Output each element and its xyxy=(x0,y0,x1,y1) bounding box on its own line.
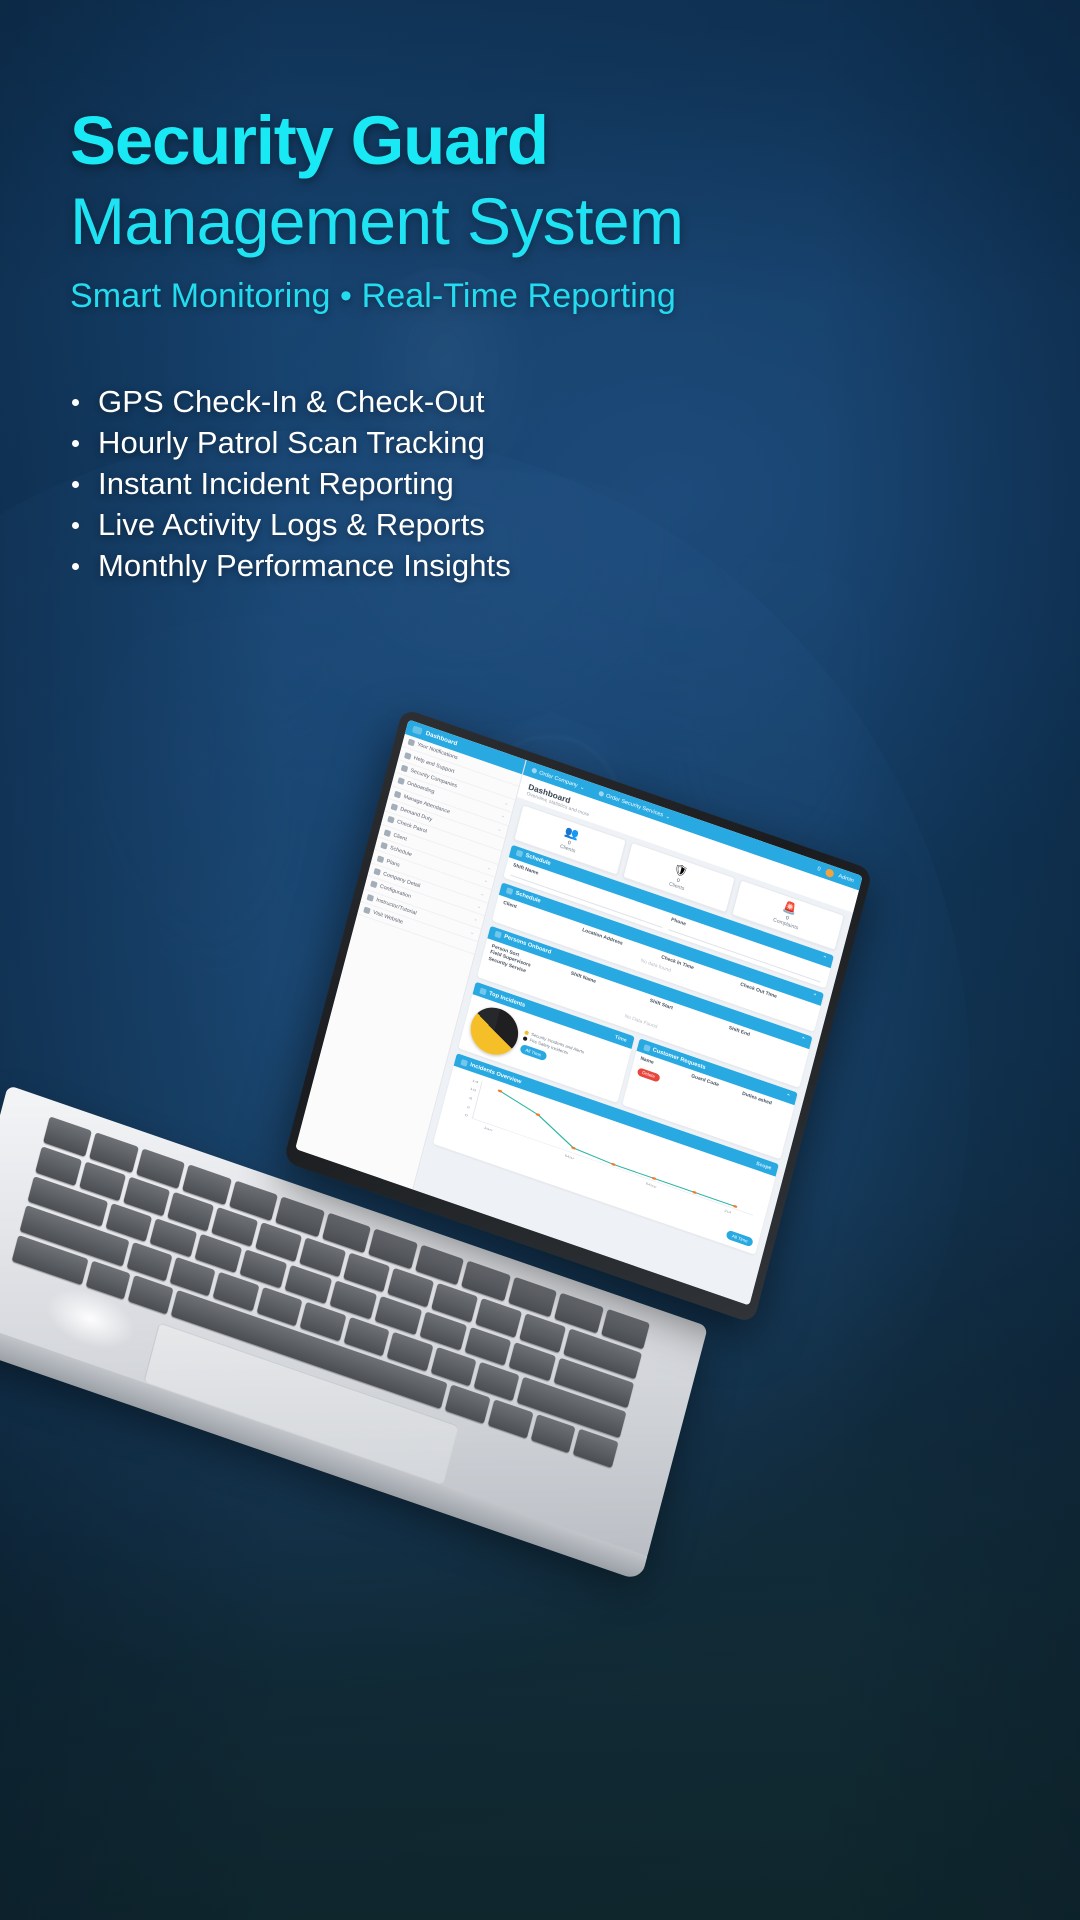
help-icon xyxy=(404,752,412,760)
svg-text:0: 0 xyxy=(464,1113,468,1117)
chevron-down-icon: ⌄ xyxy=(483,877,489,884)
people-icon xyxy=(494,931,502,939)
app-logo-icon xyxy=(412,725,423,735)
bullet-dot-icon xyxy=(72,522,79,529)
onboard-icon xyxy=(397,777,405,785)
collapse-icon[interactable]: ⌃ xyxy=(812,993,818,1000)
chevron-down-icon: ⌄ xyxy=(480,890,486,897)
schedule-icon xyxy=(516,850,524,858)
duty-icon xyxy=(390,803,398,811)
feature-label: GPS Check-In & Check-Out xyxy=(98,384,485,419)
alert-icon xyxy=(479,987,487,995)
svg-text:10: 10 xyxy=(470,1087,478,1092)
chevron-down-icon: ⌄ xyxy=(504,800,510,807)
hero-subtitle: Smart Monitoring • Real-Time Reporting xyxy=(70,277,676,316)
pie-legend: Security Incidents and Alerts Fire Safet… xyxy=(519,1029,585,1073)
headline-line-2: Management System xyxy=(70,183,683,259)
svg-text:Mar: Mar xyxy=(564,1154,575,1161)
laptop-mockup: Dashboard Your Notifications Help and Su… xyxy=(0,690,1080,1410)
plans-icon xyxy=(377,855,385,863)
client-icon xyxy=(384,829,392,837)
plus-icon xyxy=(598,790,604,797)
globe-icon xyxy=(363,907,371,915)
feature-item: Hourly Patrol Scan Tracking xyxy=(68,422,511,463)
bullet-dot-icon xyxy=(72,440,79,447)
svg-text:2: 2 xyxy=(467,1105,471,1109)
legend-swatch xyxy=(523,1036,528,1041)
chevron-down-icon: ⌄ xyxy=(500,813,506,820)
feature-label: Instant Incident Reporting xyxy=(98,466,454,501)
chevron-down-icon: ⌄ xyxy=(476,903,482,910)
feature-label: Monthly Performance Insights xyxy=(98,548,511,583)
svg-text:Jul: Jul xyxy=(723,1209,731,1215)
user-label[interactable]: Admin xyxy=(838,873,855,884)
bullet-dot-icon xyxy=(72,563,79,570)
headline-line-1: Security Guard xyxy=(70,101,548,180)
gear-icon xyxy=(370,881,378,889)
collapse-icon[interactable]: ⌃ xyxy=(821,955,827,962)
chevron-down-icon: ⌄ xyxy=(469,929,475,936)
time-label: Time xyxy=(614,1034,627,1044)
bullet-dot-icon xyxy=(72,399,79,406)
chevron-down-icon: ⌄ xyxy=(486,865,492,872)
avatar[interactable] xyxy=(824,867,834,877)
schedule-icon xyxy=(380,842,388,850)
calendar-icon xyxy=(506,887,514,895)
patrol-icon xyxy=(387,816,395,824)
feature-item: Monthly Performance Insights xyxy=(68,545,511,586)
svg-text:6: 6 xyxy=(469,1096,473,1100)
company-icon xyxy=(373,868,381,876)
chart-time-filter-button[interactable]: All Time xyxy=(726,1230,754,1247)
bullet-dot-icon xyxy=(72,481,79,488)
feature-list: GPS Check-In & Check-Out Hourly Patrol S… xyxy=(68,381,511,586)
plus-icon xyxy=(531,767,537,774)
pie-chart xyxy=(465,1001,523,1061)
chevron-down-icon: ⌄ xyxy=(473,916,479,923)
chart-icon xyxy=(461,1058,469,1066)
feature-label: Live Activity Logs & Reports xyxy=(98,507,485,542)
book-icon xyxy=(367,894,375,902)
chevron-down-icon: ⌄ xyxy=(497,826,503,833)
feature-item: Live Activity Logs & Reports xyxy=(68,504,511,545)
feature-item: GPS Check-In & Check-Out xyxy=(68,381,511,422)
svg-text:Jan: Jan xyxy=(483,1126,493,1132)
svg-text:14: 14 xyxy=(472,1079,480,1084)
notification-badge[interactable]: 0 xyxy=(817,865,822,872)
collapse-icon[interactable]: ⌃ xyxy=(800,1037,806,1044)
bell-icon xyxy=(408,739,416,747)
request-icon xyxy=(643,1044,651,1052)
shield-icon xyxy=(401,765,409,773)
feature-label: Hourly Patrol Scan Tracking xyxy=(98,425,485,460)
feature-item: Instant Incident Reporting xyxy=(68,463,511,504)
collapse-icon[interactable]: ⌃ xyxy=(785,1093,791,1100)
svg-text:May: May xyxy=(645,1182,657,1189)
calendar-icon xyxy=(394,790,402,798)
